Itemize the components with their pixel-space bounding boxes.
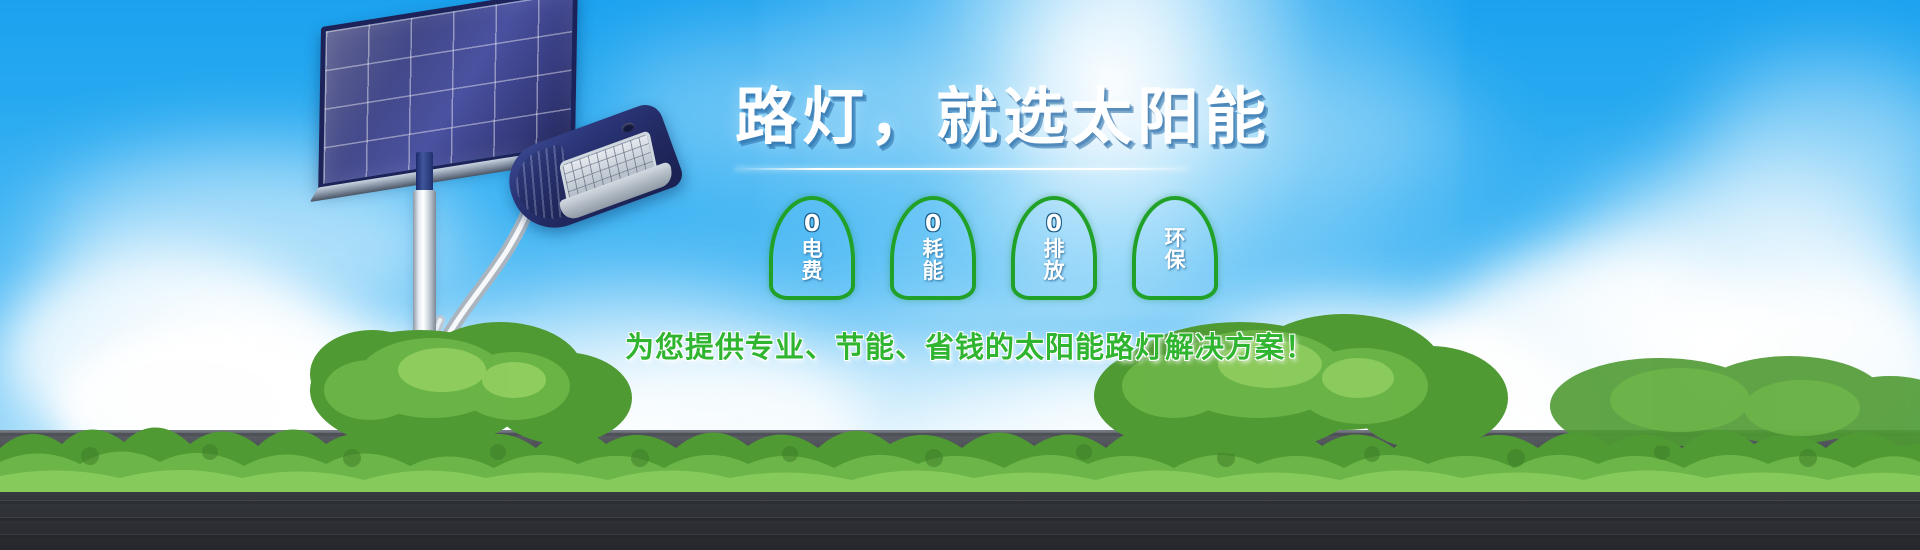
badge-label: 环保 [1165,228,1186,272]
banner-tagline: 为您提供专业、节能、省钱的太阳能路灯解决方案！ [625,324,1455,366]
badge-number: 0 [1046,213,1062,236]
badge-label: 排放 [1044,239,1065,283]
badge-label: 耗能 [923,239,944,283]
solar-street-light-banner: 路灯，就选太阳能 0 电费 0 耗能 0 排放 环保 [0,0,1920,550]
feature-badge-emissions: 0 排放 [1011,196,1097,300]
tiled-wall [0,432,1920,550]
badge-number: 0 [804,213,820,236]
banner-content: 路灯，就选太阳能 0 电费 0 耗能 0 排放 环保 [735,86,1455,416]
feature-badge-list: 0 电费 0 耗能 0 排放 环保 [735,196,1455,300]
banner-headline: 路灯，就选太阳能 [735,86,1455,148]
badge-label: 电费 [802,239,823,283]
headline-divider [735,168,1189,170]
feature-badge-electricity-fee: 0 电费 [769,196,855,300]
feature-badge-energy-consumption: 0 耗能 [890,196,976,300]
badge-number: 0 [925,213,941,236]
feature-badge-eco-friendly: 环保 [1132,196,1218,300]
